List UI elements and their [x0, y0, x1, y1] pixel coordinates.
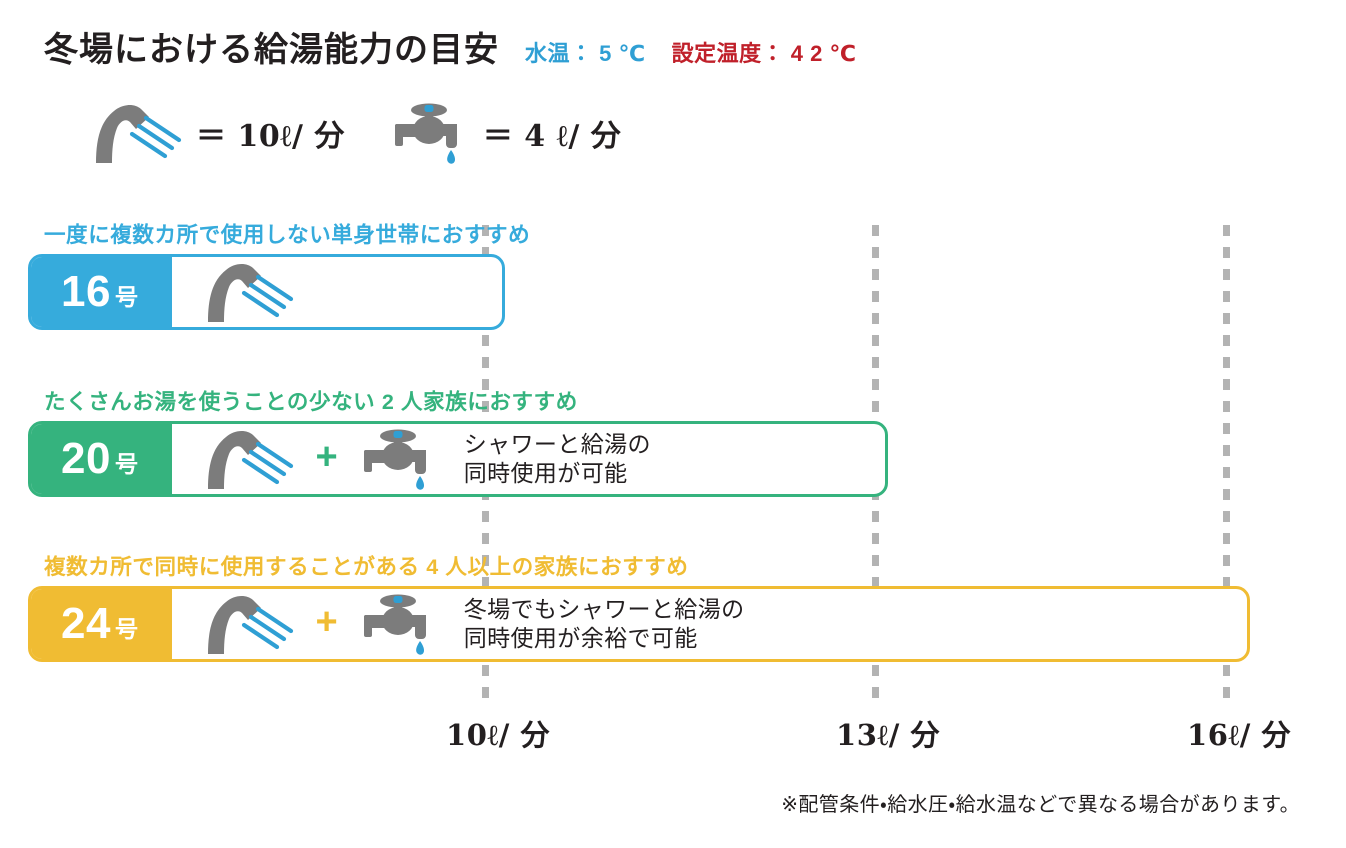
- bar-description-24go: 冬場でもシャワーと給湯の 同時使用が余裕で可能: [464, 595, 745, 654]
- legend-item-faucet: ＝ 4 ℓ/ 分: [391, 100, 621, 166]
- shower-icon: [198, 591, 294, 657]
- axis-label-16: 16ℓ/ 分: [1187, 712, 1291, 754]
- shower-icon: [198, 259, 294, 325]
- plus-separator: +: [316, 438, 338, 480]
- axis-label-13: 13ℓ/ 分: [836, 712, 940, 754]
- row-caption-24go: 複数カ所で同時に使用することがある 4 人以上の家族におすすめ: [44, 550, 1250, 581]
- legend-faucet-value: ＝ 4 ℓ/ 分: [483, 111, 621, 155]
- badge-number: 20: [61, 437, 111, 481]
- bar-20go[interactable]: 20 号 +: [28, 421, 888, 497]
- shower-icon: [198, 426, 294, 492]
- faucet-icon: [391, 100, 469, 166]
- footnote: ※配管条件・給水圧・給水温などで異なる場合があります。: [781, 788, 1300, 817]
- infographic-page: 冬場における給湯能力の目安 水温： 5 ℃ 設定温度： 4 2 ℃ ＝ 10ℓ/…: [0, 0, 1346, 848]
- badge-unit: 号: [115, 608, 138, 641]
- water-temperature-label: 水温： 5 ℃: [525, 36, 646, 68]
- badge-number: 16: [61, 270, 111, 314]
- row-16go: 一度に複数カ所で使用しない単身世帯におすすめ 16 号: [28, 218, 530, 330]
- shower-icon: [86, 100, 182, 166]
- row-caption-16go: 一度に複数カ所で使用しない単身世帯におすすめ: [44, 218, 530, 249]
- bar-24go[interactable]: 24 号 +: [28, 586, 1250, 662]
- bar-description-line1: 冬場でもシャワーと給湯の: [464, 596, 745, 622]
- badge-24go: 24 号: [28, 586, 172, 662]
- legend-shower-value: ＝ 10ℓ/ 分: [196, 111, 345, 155]
- row-20go: たくさんお湯を使うことの少ない 2 人家族におすすめ 20 号: [28, 385, 888, 497]
- badge-unit: 号: [115, 443, 138, 476]
- bar-description-line2: 同時使用が可能: [464, 460, 628, 486]
- badge-16go: 16 号: [28, 254, 172, 330]
- bar-body-24go: + 冬場でもシャワーと給湯の: [172, 589, 745, 659]
- badge-20go: 20 号: [28, 421, 172, 497]
- bar-body-16go: [172, 257, 294, 327]
- faucet-icon: [360, 591, 438, 657]
- row-24go: 複数カ所で同時に使用することがある 4 人以上の家族におすすめ 24 号: [28, 550, 1250, 662]
- bar-description-line1: シャワーと給湯の: [464, 431, 651, 457]
- badge-number: 24: [61, 602, 111, 646]
- axis-label-10: 10ℓ/ 分: [446, 712, 550, 754]
- header: 冬場における給湯能力の目安 水温： 5 ℃ 設定温度： 4 2 ℃: [44, 22, 857, 71]
- legend: ＝ 10ℓ/ 分 ＝ 4 ℓ/ 分: [86, 100, 621, 166]
- faucet-icon: [360, 426, 438, 492]
- bar-16go[interactable]: 16 号: [28, 254, 505, 330]
- bar-description-line2: 同時使用が余裕で可能: [464, 625, 698, 651]
- set-temperature-label: 設定温度： 4 2 ℃: [672, 36, 857, 68]
- bar-body-20go: + シャワーと給湯の 同時使: [172, 424, 651, 494]
- legend-item-shower: ＝ 10ℓ/ 分: [86, 100, 345, 166]
- page-title: 冬場における給湯能力の目安: [44, 22, 499, 71]
- plus-separator: +: [316, 603, 338, 645]
- bar-description-20go: シャワーと給湯の 同時使用が可能: [464, 430, 651, 489]
- badge-unit: 号: [115, 276, 138, 309]
- row-caption-20go: たくさんお湯を使うことの少ない 2 人家族におすすめ: [44, 385, 888, 416]
